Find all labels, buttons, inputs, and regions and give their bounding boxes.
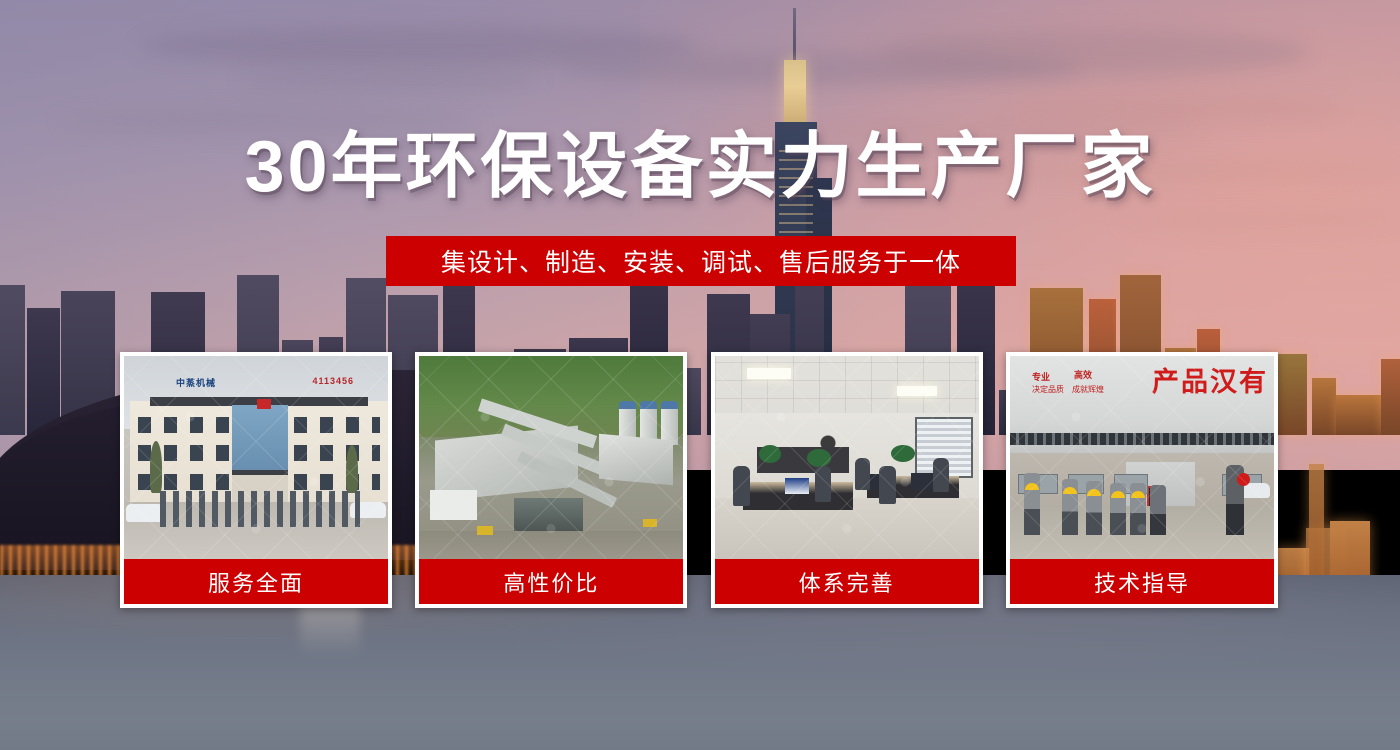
subtitle-banner: 集设计、制造、安装、调试、售后服务于一体 <box>386 236 1016 286</box>
skyline-building <box>27 308 60 435</box>
feature-card[interactable]: 产品汉有 专业 高效 决定品质 成就辉煌 <box>1006 352 1278 608</box>
banner-stage: 30年环保设备实力生产厂家 集设计、制造、安装、调试、售后服务于一体 <box>0 0 1400 750</box>
building-phone-text: 4113456 <box>312 376 354 386</box>
feature-card[interactable]: 体系完善 <box>711 352 983 608</box>
workers-training-photo: 产品汉有 专业 高效 决定品质 成就辉煌 <box>1010 356 1274 559</box>
factory-slogan-a: 专业 <box>1032 370 1050 383</box>
skyline-building <box>0 285 25 435</box>
cloud <box>240 70 540 92</box>
subtitle-text: 集设计、制造、安装、调试、售后服务于一体 <box>441 243 961 279</box>
cloud <box>880 30 1310 76</box>
company-headquarters-photo: 中蒸机械 4113456 <box>124 356 388 559</box>
factory-slogan-b: 高效 <box>1074 368 1092 381</box>
page-title: 30年环保设备实力生产厂家 <box>0 131 1400 203</box>
feature-cards: 中蒸机械 4113456 服务全面 <box>120 352 1278 608</box>
office-interior-photo <box>715 356 979 559</box>
feature-card-label: 体系完善 <box>715 559 979 604</box>
feature-card-label: 技术指导 <box>1010 559 1274 604</box>
tower-lit-crown <box>784 60 806 126</box>
factory-slogan-d: 成就辉煌 <box>1072 384 1104 395</box>
factory-slogan-main: 产品汉有 <box>1152 360 1268 399</box>
feature-card-label: 服务全面 <box>124 559 388 604</box>
feature-card-label: 高性价比 <box>419 559 683 604</box>
cloud <box>1120 210 1400 230</box>
aerial-factory-plant-photo <box>419 356 683 559</box>
building-sign-text: 中蒸机械 <box>176 376 216 389</box>
feature-card[interactable]: 中蒸机械 4113456 服务全面 <box>120 352 392 608</box>
warm-lit-tower <box>1309 464 1324 590</box>
feature-card[interactable]: 高性价比 <box>415 352 687 608</box>
factory-slogan-c: 决定品质 <box>1032 384 1064 395</box>
